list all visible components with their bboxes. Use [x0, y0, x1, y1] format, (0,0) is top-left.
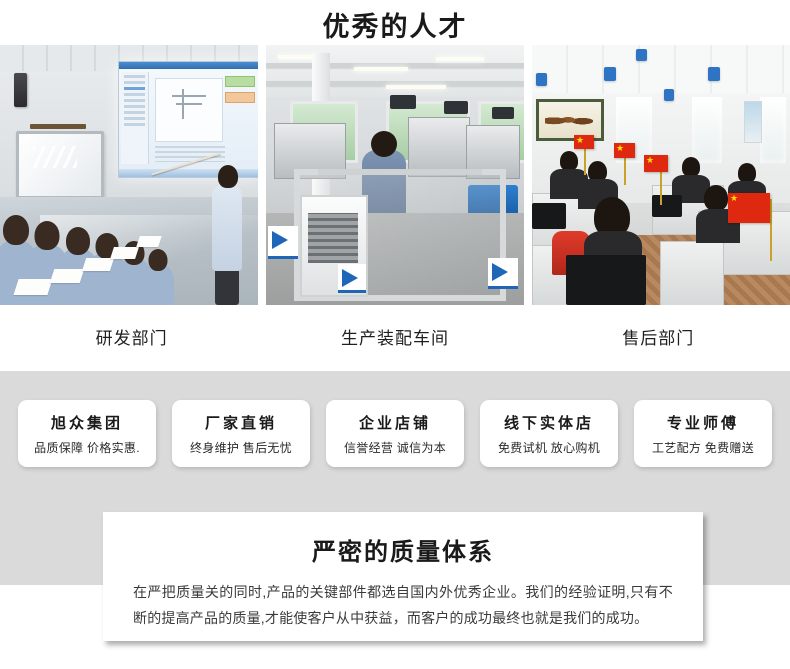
- page-title: 优秀的人才: [0, 0, 790, 45]
- gallery-caption-aftersales: 售后部门: [527, 324, 790, 349]
- gallery-item-production[interactable]: [266, 45, 524, 305]
- feature-card-subtitle: 信誉经营 诚信为本: [344, 439, 446, 456]
- feature-card-title: 厂家直销: [205, 412, 277, 433]
- call-center-photo: [532, 45, 790, 305]
- gallery-caption-production: 生产装配车间: [263, 324, 526, 349]
- gallery-caption-rd: 研发部门: [0, 324, 263, 349]
- quality-title: 严密的质量体系: [133, 532, 673, 567]
- feature-card-subtitle: 终身维护 售后无忧: [190, 439, 292, 456]
- feature-card-title: 专业师傅: [667, 412, 739, 433]
- gallery-item-rd[interactable]: [0, 45, 258, 305]
- gallery-caption-row: 研发部门 生产装配车间 售后部门: [0, 305, 790, 367]
- training-room-photo: [0, 45, 258, 305]
- feature-card-subtitle: 工艺配方 免费赠送: [652, 439, 754, 456]
- gallery-photo-row: [0, 45, 790, 305]
- feature-card-list: 旭众集团 品质保障 价格实惠. 厂家直销 终身维护 售后无忧 企业店铺 信誉经营…: [0, 371, 790, 467]
- quality-panel: 严密的质量体系 在严把质量关的同时,产品的关键部件都选自国内外优秀企业。我们的经…: [103, 512, 703, 641]
- gallery-item-aftersales[interactable]: [532, 45, 790, 305]
- feature-card-group[interactable]: 旭众集团 品质保障 价格实惠.: [18, 400, 156, 467]
- feature-card-subtitle: 免费试机 放心购机: [498, 439, 600, 456]
- factory-floor-photo: [266, 45, 524, 305]
- feature-card-professional-master[interactable]: 专业师傅 工艺配方 免费赠送: [634, 400, 772, 467]
- feature-card-subtitle: 品质保障 价格实惠.: [34, 439, 140, 456]
- feature-card-direct-sales[interactable]: 厂家直销 终身维护 售后无忧: [172, 400, 310, 467]
- feature-card-title: 旭众集团: [51, 412, 123, 433]
- feature-card-title: 线下实体店: [504, 412, 594, 433]
- feature-card-offline-store[interactable]: 线下实体店 免费试机 放心购机: [480, 400, 618, 467]
- quality-description: 在严把质量关的同时,产品的关键部件都选自国内外优秀企业。我们的经验证明,只有不断…: [133, 579, 673, 631]
- feature-card-title: 企业店铺: [359, 412, 431, 433]
- feature-card-enterprise-shop[interactable]: 企业店铺 信誉经营 诚信为本: [326, 400, 464, 467]
